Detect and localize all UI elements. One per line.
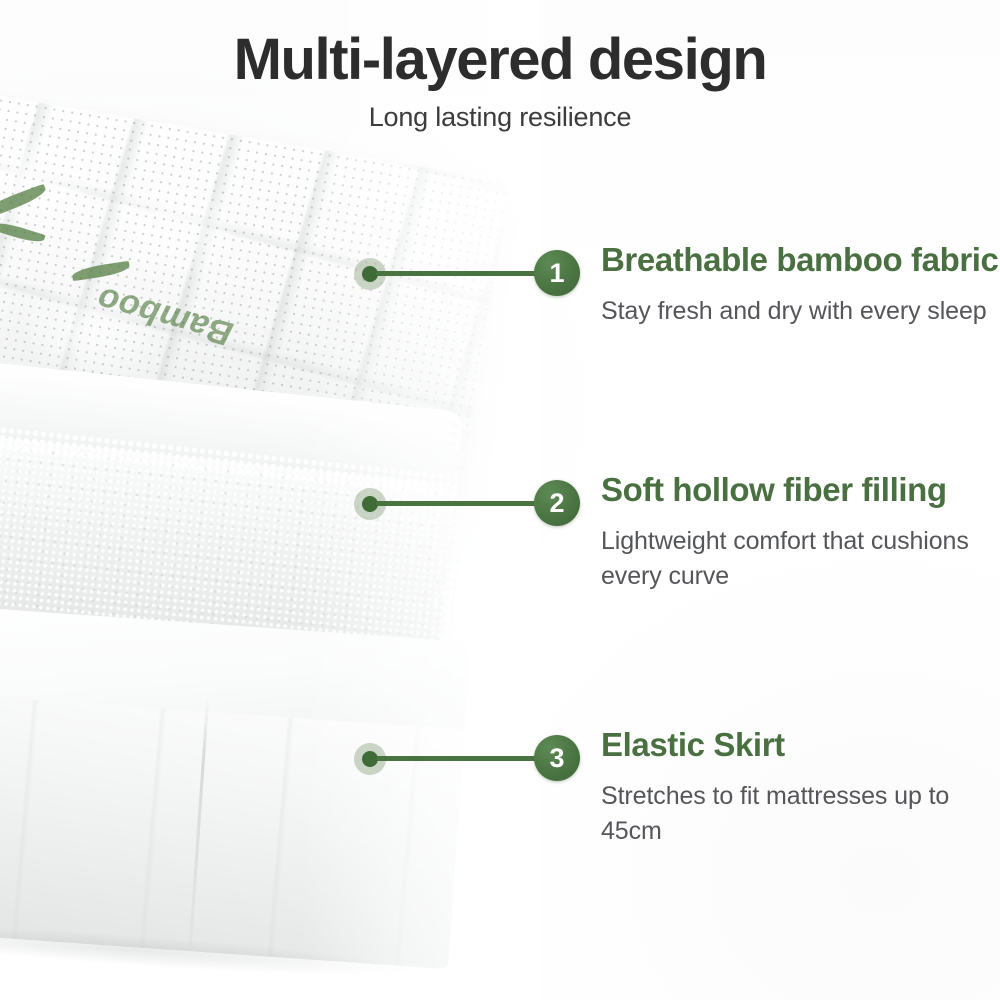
callout-heading-3: Elastic Skirt [601,725,996,765]
callout-text-1: Breathable bamboo fabric Stay fresh and … [601,240,996,329]
callout-description-3: Stretches to fit mattresses up to 45cm [601,779,996,850]
page-title: Multi-layered design [0,30,1000,90]
header: Multi-layered design Long lasting resili… [0,30,1000,133]
callout-number-badge-3: 3 [534,735,580,781]
page-subtitle: Long lasting resilience [0,102,1000,133]
callout-connector-line-3 [376,756,538,761]
callout-description-1: Stay fresh and dry with every sleep [601,294,996,330]
callout-number-badge-1: 1 [534,250,580,296]
infographic-canvas: Bamboo Bamboo Multi-layered [0,0,1000,1000]
callout-connector-line-2 [376,501,538,506]
callout-heading-2: Soft hollow fiber filling [601,470,996,510]
callout-number-badge-2: 2 [534,480,580,526]
callout-text-2: Soft hollow fiber filling Lightweight co… [601,470,996,595]
callout-text-3: Elastic Skirt Stretches to fit mattresse… [601,725,996,850]
callout-connector-line-1 [376,271,538,276]
callout-heading-1: Breathable bamboo fabric [601,240,996,280]
callout-list: 1 Breathable bamboo fabric Stay fresh an… [0,0,1000,1000]
callout-description-2: Lightweight comfort that cushions every … [601,524,996,595]
